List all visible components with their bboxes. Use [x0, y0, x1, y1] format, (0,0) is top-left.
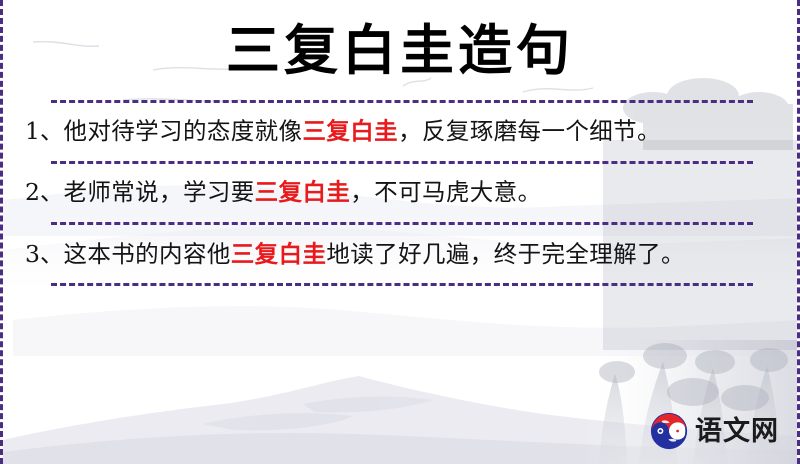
sentence-run: 老师常说，学习要 [63, 178, 254, 206]
sentence-run: 这本书的内容他 [63, 240, 230, 268]
sentence-run: 地读了好几遍，终于完全理解了。 [326, 240, 685, 268]
sentence-run: ，不可马虎大意。 [350, 178, 541, 206]
sentence-text-1: 1、他对待学习的态度就像三复白圭，反复琢磨每一个细节。 [25, 114, 661, 150]
highlighted-idiom: 三复白圭 [302, 117, 398, 145]
list-item: 3、这本书的内容他三复白圭地读了好几遍，终于完全理解了。 [3, 225, 797, 283]
list-item: 1、他对待学习的态度就像三复白圭，反复琢磨每一个细节。 [3, 103, 797, 161]
highlighted-idiom: 三复白圭 [231, 240, 327, 268]
sentence-number: 1、 [25, 117, 63, 145]
sentence-text-2: 2、老师常说，学习要三复白圭，不可马虎大意。 [25, 175, 541, 211]
list-item: 2、老师常说，学习要三复白圭，不可马虎大意。 [3, 164, 797, 222]
double-fish-circle-logo-icon [650, 412, 688, 450]
highlighted-idiom: 三复白圭 [255, 178, 351, 206]
example-sentence-list: 1、他对待学习的态度就像三复白圭，反复琢磨每一个细节。 2、老师常说，学习要三复… [3, 103, 797, 286]
site-logo[interactable]: 语文网 [650, 412, 779, 450]
sentence-run: 他对待学习的态度就像 [63, 117, 302, 145]
sentence-text-3: 3、这本书的内容他三复白圭地读了好几遍，终于完全理解了。 [25, 237, 685, 273]
sentence-number: 2、 [25, 178, 63, 206]
page-canvas: 三复白圭造句 1、他对待学习的态度就像三复白圭，反复琢磨每一个细节。 2、老师常… [0, 0, 800, 464]
sentence-number: 3、 [25, 240, 63, 268]
title-block: 三复白圭造句 [3, 0, 797, 100]
site-logo-text: 语文网 [695, 418, 779, 445]
page-title: 三复白圭造句 [226, 23, 574, 77]
divider-bottom [51, 283, 753, 286]
sentence-run: ，反复琢磨每一个细节。 [398, 117, 661, 145]
